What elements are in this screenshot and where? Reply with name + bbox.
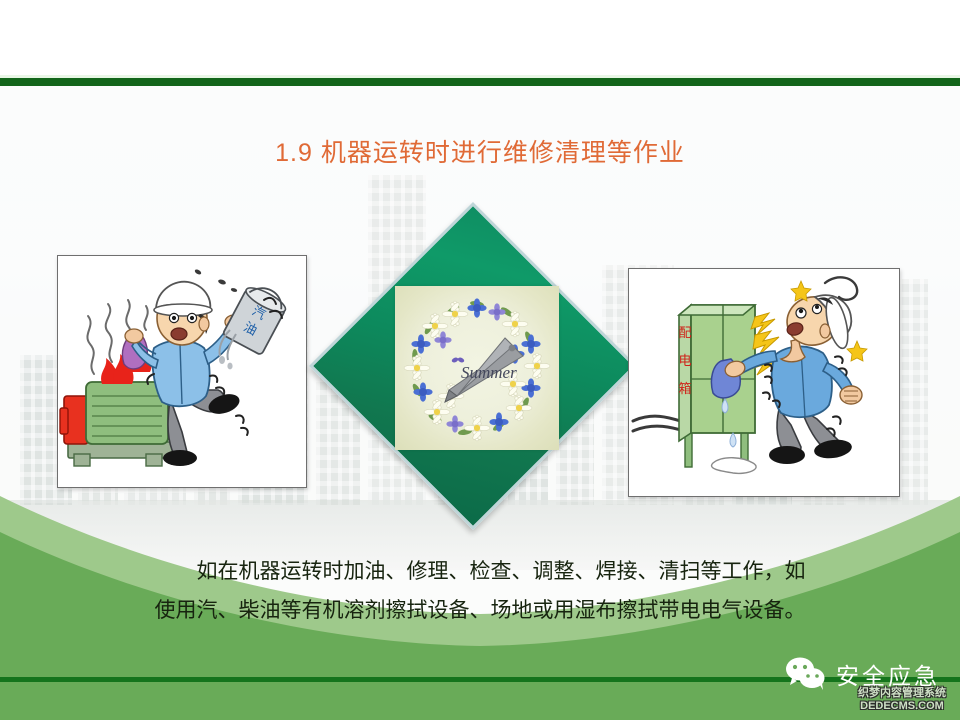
body-caption: 如在机器运转时加油、修理、检查、调整、焊接、清扫等工作，如 使用汽、柴油等有机溶…	[85, 552, 875, 630]
watermark-line-2: DEDECMS.COM	[844, 700, 960, 713]
cabinet-label-char2: 电	[678, 353, 691, 368]
dedecms-watermark: 织梦内容管理系统 DEDECMS.COM	[844, 687, 960, 713]
top-green-rule	[0, 78, 960, 86]
wechat-label: 安全应急	[836, 657, 940, 691]
wechat-footer[interactable]: 安全应急	[784, 657, 940, 691]
caption-line-1: 如在机器运转时加油、修理、检查、调整、焊接、清扫等工作，如	[85, 552, 875, 591]
cabinet-label-char3: 箱	[678, 381, 691, 396]
wreath-script-text: Summer	[461, 363, 517, 382]
wreath-illustration: Summer	[395, 286, 559, 450]
slide-canvas: 1.9 机器运转时进行维修清理等作业	[0, 0, 960, 720]
watermark-line-1: 织梦内容管理系统	[844, 687, 960, 700]
right-illustration: 配 电 箱	[629, 269, 897, 494]
wechat-icon	[784, 657, 826, 691]
center-wreath-image[interactable]: Summer	[395, 286, 559, 450]
page-title: 1.9 机器运转时进行维修清理等作业	[0, 133, 960, 169]
right-illustration-frame[interactable]: 配 电 箱	[628, 268, 900, 497]
left-illustration: 汽 油	[58, 256, 304, 485]
center-diamond-group: Summer	[300, 196, 640, 541]
left-illustration-frame[interactable]: 汽 油	[57, 255, 307, 488]
cabinet-label-char1: 配	[678, 325, 691, 340]
caption-line-2: 使用汽、柴油等有机溶剂擦拭设备、场地或用湿布擦拭带电电气设备。	[85, 591, 875, 630]
